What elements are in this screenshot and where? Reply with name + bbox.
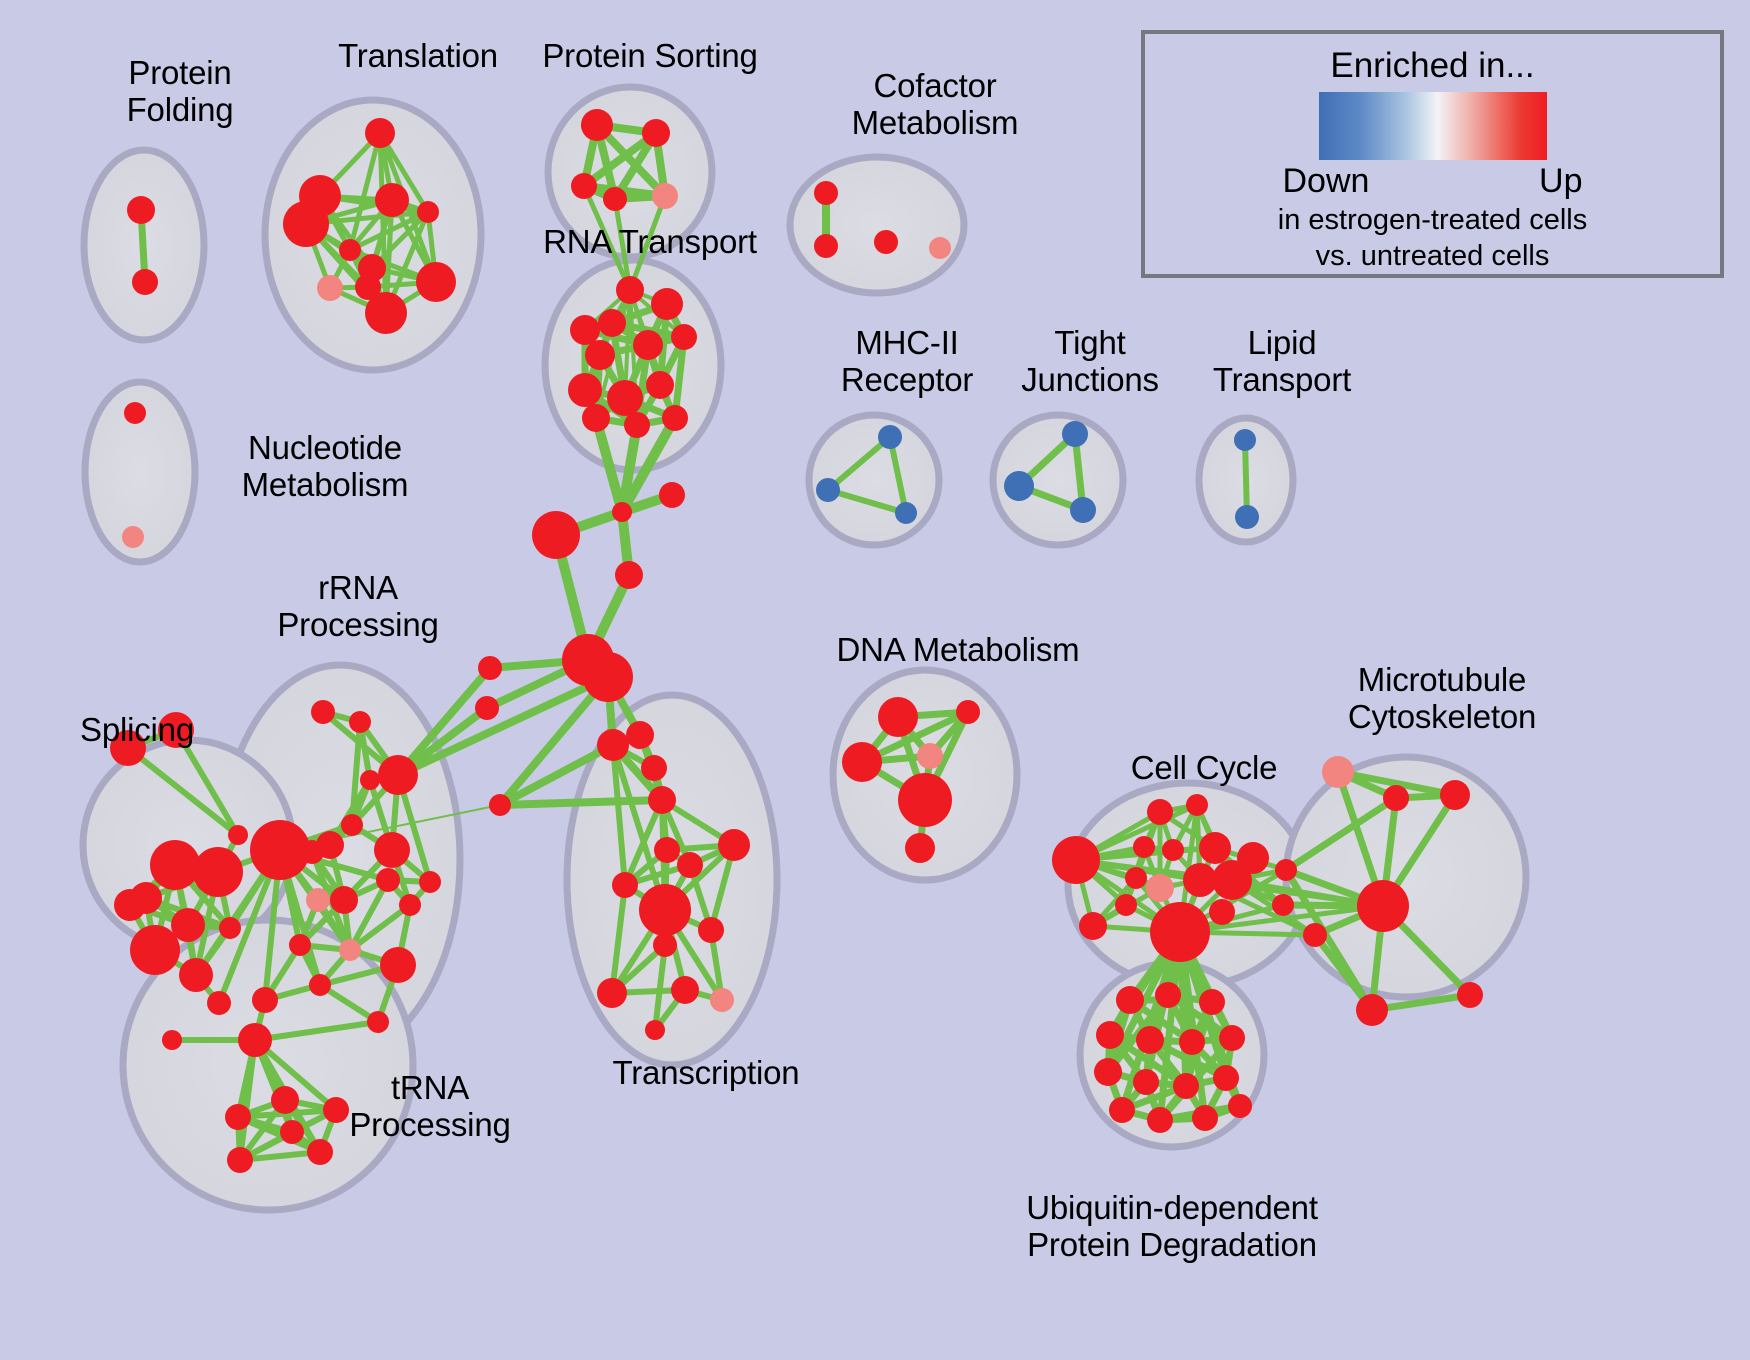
node	[1133, 1069, 1159, 1095]
node	[651, 288, 683, 320]
node	[280, 1120, 304, 1144]
node	[1209, 899, 1235, 925]
node	[309, 974, 331, 996]
node	[710, 988, 734, 1012]
node	[1136, 1026, 1164, 1054]
legend-panel: Enriched in... Down Up in estrogen-treat…	[1141, 30, 1724, 278]
cluster-label-nucleotide: Nucleotide Metabolism	[190, 430, 460, 504]
cluster-label-splicing: Splicing	[52, 712, 222, 749]
node	[365, 292, 407, 334]
node	[1052, 836, 1100, 884]
node	[228, 825, 248, 845]
node	[114, 889, 146, 921]
cluster-label-rrna: rRNA Processing	[238, 570, 478, 644]
node	[585, 340, 615, 370]
node	[615, 561, 643, 589]
node	[227, 1147, 253, 1173]
node	[376, 868, 400, 892]
node	[1150, 902, 1210, 962]
node	[1199, 989, 1225, 1015]
node	[698, 917, 724, 943]
node	[814, 234, 838, 258]
node	[626, 721, 654, 749]
node	[489, 794, 511, 816]
cluster-label-trna: tRNA Processing	[310, 1070, 550, 1144]
node	[895, 502, 917, 524]
legend-low-label: Down	[1283, 162, 1370, 201]
node	[642, 119, 670, 147]
node	[1192, 1105, 1218, 1131]
node	[1133, 836, 1155, 858]
node	[1322, 756, 1354, 788]
node	[1079, 912, 1107, 940]
node	[905, 833, 935, 863]
node	[1183, 863, 1217, 897]
node	[1383, 785, 1409, 811]
node	[654, 837, 680, 863]
enrichment-map-figure: Protein Folding Translation Protein Sort…	[0, 0, 1750, 1360]
node	[956, 700, 980, 724]
node	[150, 840, 200, 890]
cluster-label-rna-transport: RNA Transport	[500, 224, 800, 261]
cluster-label-tight-junctions: Tight Junctions	[980, 325, 1200, 399]
node	[1147, 799, 1173, 825]
node	[568, 373, 602, 407]
node	[662, 405, 688, 431]
node	[652, 183, 678, 209]
node	[225, 1104, 251, 1130]
node	[1096, 1021, 1124, 1049]
node	[1272, 894, 1294, 916]
legend-high-label: Up	[1539, 162, 1582, 201]
cluster-label-transcription: Transcription	[566, 1055, 846, 1092]
node	[349, 711, 371, 733]
node	[878, 697, 918, 737]
node	[641, 755, 667, 781]
node	[1155, 982, 1181, 1008]
node	[648, 786, 676, 814]
node	[417, 201, 439, 223]
node	[132, 269, 158, 295]
node	[1199, 832, 1231, 864]
node	[659, 482, 685, 508]
node	[1109, 1097, 1135, 1123]
node	[612, 502, 632, 522]
node	[814, 181, 838, 205]
node	[419, 871, 441, 893]
node	[283, 201, 329, 247]
node	[130, 925, 180, 975]
node	[603, 187, 627, 211]
node	[612, 872, 638, 898]
node	[639, 884, 691, 936]
node	[219, 917, 241, 939]
node	[365, 118, 395, 148]
node	[653, 933, 677, 957]
node	[929, 237, 951, 259]
node	[416, 262, 456, 302]
node	[1116, 986, 1144, 1014]
node	[671, 976, 699, 1004]
node	[597, 978, 627, 1008]
node	[616, 276, 644, 304]
node	[1186, 794, 1208, 816]
node	[1062, 421, 1088, 447]
node	[677, 852, 703, 878]
cluster-label-microtubule: Microtubule Cytoskeleton	[1292, 662, 1592, 736]
node	[597, 729, 629, 761]
cluster-label-cell-cycle: Cell Cycle	[1094, 750, 1314, 787]
node	[1146, 874, 1174, 902]
cluster-label-cofactor: Cofactor Metabolism	[800, 68, 1070, 142]
node	[311, 700, 335, 724]
node	[624, 412, 650, 438]
node	[874, 230, 898, 254]
legend-endpoints: Down Up	[1283, 162, 1583, 201]
node	[375, 183, 409, 217]
node	[1237, 842, 1269, 874]
node	[1303, 923, 1327, 947]
node	[162, 1030, 182, 1050]
node	[339, 239, 361, 261]
hull-cofactor	[790, 157, 964, 293]
node	[570, 315, 600, 345]
node	[330, 886, 358, 914]
node	[582, 404, 610, 432]
legend-caption-line2: vs. untreated cells	[1316, 239, 1550, 273]
node	[1070, 497, 1096, 523]
node	[478, 656, 502, 680]
cluster-label-protein-sorting: Protein Sorting	[500, 38, 800, 75]
node	[1219, 1025, 1245, 1051]
node	[583, 652, 633, 702]
node	[1228, 1094, 1252, 1118]
node	[252, 987, 278, 1013]
node	[367, 1011, 389, 1033]
legend-caption-line1: in estrogen-treated cells	[1278, 203, 1588, 237]
node	[122, 526, 144, 548]
node	[607, 380, 643, 416]
cluster-label-lipid-transport: Lipid Transport	[1172, 325, 1392, 399]
node	[1094, 1058, 1122, 1086]
node	[671, 324, 697, 350]
node	[306, 888, 330, 912]
legend-title: Enriched in...	[1330, 46, 1534, 86]
node	[1162, 839, 1184, 861]
node	[816, 478, 840, 502]
node	[193, 847, 243, 897]
node	[341, 814, 363, 836]
node	[1356, 994, 1388, 1026]
node	[1235, 505, 1259, 529]
node	[1173, 1073, 1199, 1099]
node	[1357, 880, 1409, 932]
node	[842, 742, 882, 782]
node	[718, 829, 750, 861]
legend-colorbar	[1319, 92, 1547, 160]
node	[646, 371, 674, 399]
node	[878, 425, 902, 449]
node	[581, 109, 613, 141]
node	[475, 696, 499, 720]
node	[1440, 780, 1470, 810]
cluster-label-ubiquitin: Ubiquitin-dependent Protein Degradation	[982, 1190, 1362, 1264]
node	[207, 991, 231, 1015]
node	[339, 939, 361, 961]
node	[250, 820, 310, 880]
node	[1179, 1029, 1205, 1055]
node	[898, 773, 952, 827]
cluster-label-protein-folding: Protein Folding	[85, 55, 275, 129]
node	[317, 275, 343, 301]
node	[399, 894, 421, 916]
node	[532, 511, 580, 559]
node	[1004, 471, 1034, 501]
node	[124, 402, 146, 424]
node	[127, 196, 155, 224]
node	[271, 1086, 299, 1114]
node	[1147, 1107, 1173, 1133]
node	[917, 743, 943, 769]
node	[1125, 867, 1147, 889]
node	[1213, 1065, 1239, 1091]
node	[378, 755, 418, 795]
node	[633, 330, 663, 360]
node	[238, 1023, 272, 1057]
node	[598, 309, 626, 337]
node	[374, 832, 410, 868]
node	[380, 947, 416, 983]
node	[289, 934, 311, 956]
node	[645, 1020, 665, 1040]
node	[571, 173, 597, 199]
node	[1234, 429, 1256, 451]
cluster-label-dna-metabolism: DNA Metabolism	[808, 632, 1108, 669]
node	[179, 958, 213, 992]
node	[1457, 982, 1483, 1008]
node	[1115, 894, 1137, 916]
node	[1275, 859, 1297, 881]
node	[360, 770, 380, 790]
